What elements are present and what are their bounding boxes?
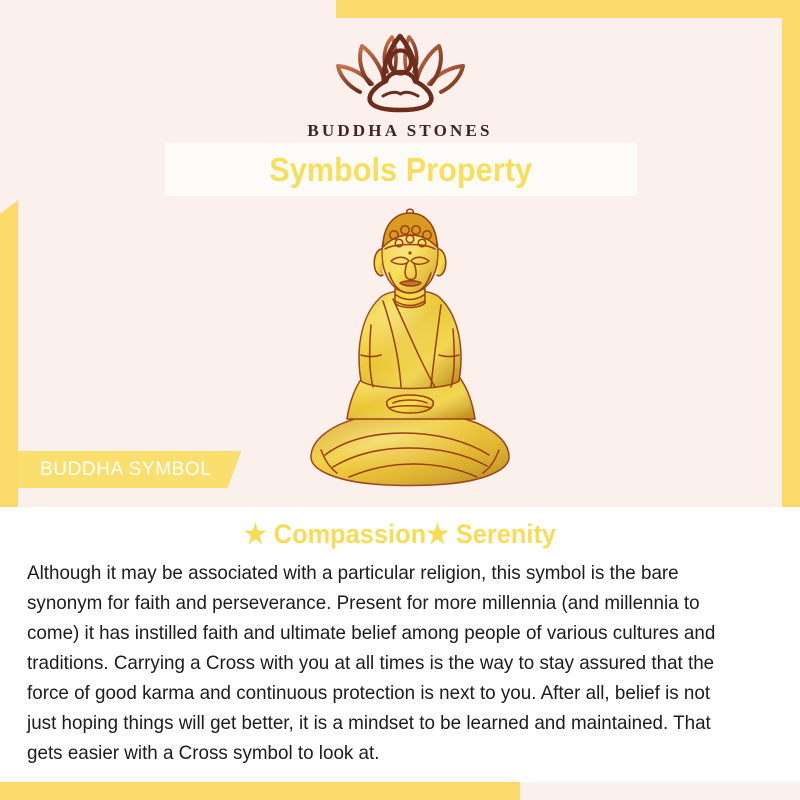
content-paragraph: Although it may be associated with a par… bbox=[0, 558, 772, 768]
symbol-category-tag: BUDDHA SYMBOL bbox=[18, 451, 241, 488]
decor-frame-top-bar bbox=[336, 0, 800, 18]
content-subtitle: ★ Compassion★ Serenity bbox=[24, 519, 776, 550]
lotus-meditation-icon bbox=[0, 22, 800, 119]
buddha-statue-image bbox=[295, 205, 525, 495]
brand-name: BUDDHA STONES bbox=[0, 121, 800, 141]
brand-logo: BUDDHA STONES bbox=[0, 22, 800, 141]
symbol-category-label: BUDDHA SYMBOL bbox=[40, 459, 211, 481]
page-root: BUDDHA STONES Symbols Property bbox=[0, 0, 800, 800]
content-panel: ★ Compassion★ Serenity Although it may b… bbox=[0, 507, 800, 782]
decor-frame-bottom-bar bbox=[0, 782, 520, 800]
page-title-band: Symbols Property bbox=[165, 143, 637, 196]
page-title: Symbols Property bbox=[270, 151, 533, 189]
